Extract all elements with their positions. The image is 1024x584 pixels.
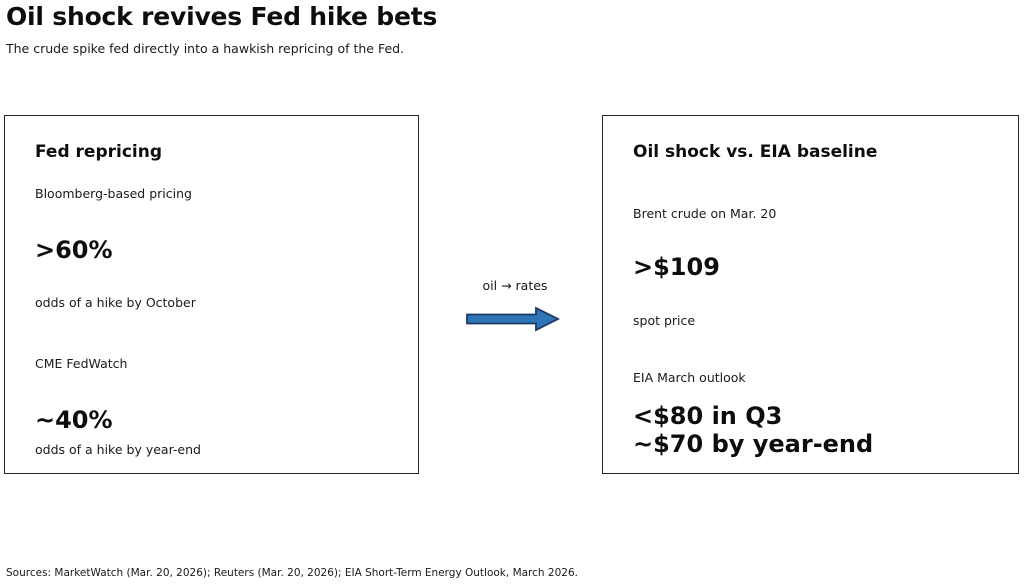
stat-caption-bloomberg: Bloomberg-based pricing xyxy=(35,186,192,201)
stat-caption-cme-fedwatch: CME FedWatch xyxy=(35,356,127,371)
connector-oil-to-rates: oil → rates xyxy=(450,270,580,340)
right-arrow-icon xyxy=(466,306,560,336)
stat-sublabel-hike-odds-year-end: odds of a hike by year-end xyxy=(35,442,201,457)
stat-value-hike-odds-october: >60% xyxy=(35,236,113,264)
panel-oil-shock-vs-eia-baseline: Oil shock vs. EIA baseline Brent crude o… xyxy=(602,115,1019,474)
stat-value-eia-forecast: <$80 in Q3 ~$70 by year-end xyxy=(633,403,873,459)
stat-caption-brent-crude: Brent crude on Mar. 20 xyxy=(633,206,776,221)
panel-right-heading: Oil shock vs. EIA baseline xyxy=(633,142,877,162)
stat-value-hike-odds-year-end: ~40% xyxy=(35,406,113,434)
sources-note: Sources: MarketWatch (Mar. 20, 2026); Re… xyxy=(6,567,578,579)
panel-fed-repricing: Fed repricing Bloomberg-based pricing >6… xyxy=(4,115,419,474)
panel-left-heading: Fed repricing xyxy=(35,142,162,162)
stat-caption-eia-march-outlook: EIA March outlook xyxy=(633,370,746,385)
connector-label: oil → rates xyxy=(450,278,580,293)
page-subtitle: The crude spike fed directly into a hawk… xyxy=(6,41,404,56)
page-title: Oil shock revives Fed hike bets xyxy=(6,2,437,31)
stat-value-brent-spot: >$109 xyxy=(633,253,720,281)
stat-sublabel-hike-odds-october: odds of a hike by October xyxy=(35,295,196,310)
stat-sublabel-brent-spot: spot price xyxy=(633,313,695,328)
